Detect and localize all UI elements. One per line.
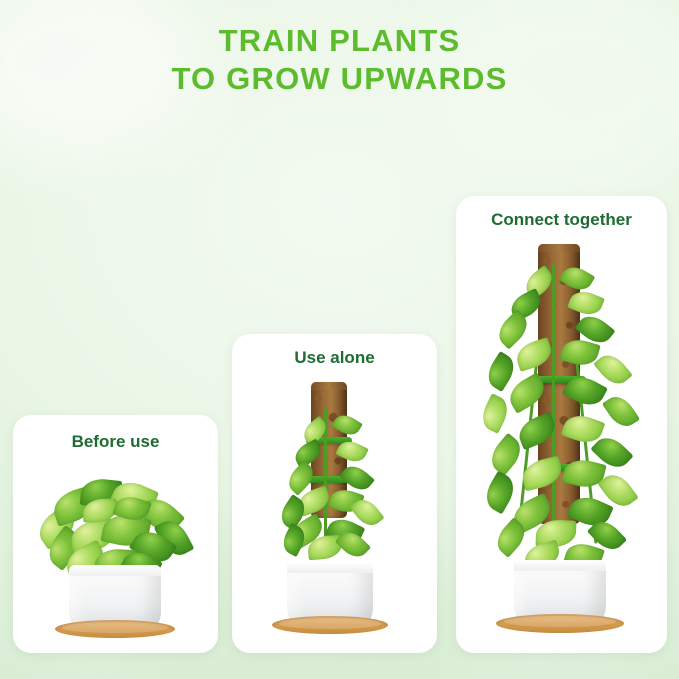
climbing-pothos-alone bbox=[272, 398, 390, 568]
pot-rim bbox=[69, 565, 161, 576]
headline-line-1: TRAIN PLANTS bbox=[0, 22, 679, 60]
climbing-pothos-connect bbox=[466, 264, 661, 584]
scene-connect-together bbox=[456, 196, 667, 653]
card-use-alone[interactable]: Use alone bbox=[232, 334, 437, 653]
pot-rim bbox=[287, 562, 373, 573]
pot-rim bbox=[514, 560, 606, 571]
card-connect-together[interactable]: Connect together bbox=[456, 196, 667, 653]
marble-pot-alone bbox=[287, 562, 373, 624]
marble-pot-connect bbox=[514, 560, 606, 622]
card-before-use-title: Before use bbox=[13, 432, 218, 452]
scene-use-alone bbox=[232, 334, 437, 653]
card-use-alone-title: Use alone bbox=[232, 348, 437, 368]
wooden-saucer-before bbox=[55, 620, 175, 638]
marble-pot-before bbox=[69, 565, 161, 628]
headline-line-2: TO GROW UPWARDS bbox=[0, 60, 679, 98]
wooden-saucer-alone bbox=[272, 616, 388, 634]
wooden-saucer-connect bbox=[496, 614, 624, 633]
product-infographic: TRAIN PLANTS TO GROW UPWARDS Before use bbox=[0, 0, 679, 679]
card-before-use[interactable]: Before use bbox=[13, 415, 218, 653]
moss-pole-cap bbox=[311, 382, 347, 390]
moss-pole-cap bbox=[538, 244, 580, 252]
headline: TRAIN PLANTS TO GROW UPWARDS bbox=[0, 22, 679, 98]
card-connect-together-title: Connect together bbox=[456, 210, 667, 230]
